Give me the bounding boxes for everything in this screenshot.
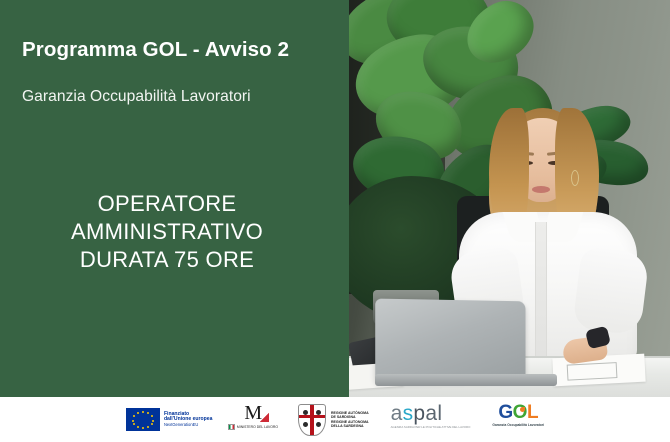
green-info-panel: Programma GOL - Avviso 2 Garanzia Occupa… bbox=[0, 0, 349, 397]
gol-letter-g: G bbox=[498, 403, 512, 422]
eu-flag-icon bbox=[126, 408, 160, 431]
title-block: Programma GOL - Avviso 2 Garanzia Occupa… bbox=[22, 38, 332, 106]
aspal-wordmark: aspal bbox=[391, 403, 443, 424]
course-duration-line: DURATA 75 ORE bbox=[0, 246, 334, 274]
laptop-base bbox=[375, 374, 557, 386]
sardinia-region-logo: REGIONE AUTÒNOMA DE SARDIGNA REGIONE AUT… bbox=[298, 403, 369, 437]
page-title: Programma GOL - Avviso 2 bbox=[22, 38, 332, 62]
aspal-letter-s: s bbox=[403, 402, 414, 425]
aspal-logo: aspal AGENZIA SARDA PER LE POLITICHE ATT… bbox=[391, 403, 471, 437]
promotional-poster: Programma GOL - Avviso 2 Garanzia Occupa… bbox=[0, 0, 670, 442]
gol-caption: Garanzia Occupabilità Lavoratori bbox=[492, 423, 544, 427]
sponsor-logo-bar: Finanziato dall'Unione europea NextGener… bbox=[0, 397, 670, 442]
person-lips bbox=[532, 186, 550, 193]
person-earring bbox=[571, 170, 579, 186]
sardinia-region-text: REGIONE AUTÒNOMA DE SARDIGNA REGIONE AUT… bbox=[331, 411, 369, 428]
ministry-caption-row: MINISTERO DEL LAVORO bbox=[228, 424, 278, 430]
sardinia-line-4: DELLA SARDEGNA bbox=[331, 424, 369, 428]
gol-logo: GOL Garanzia Occupabilità Lavoratori bbox=[492, 403, 544, 437]
aspal-letters-al: al bbox=[425, 402, 442, 425]
course-title-line-2: AMMINISTRATIVO bbox=[0, 218, 334, 246]
eu-text-line-3: NextGenerationEU bbox=[164, 423, 212, 428]
eu-funding-text: Finanziato dall'Unione europea NextGener… bbox=[164, 412, 212, 428]
ministry-m-mark: M bbox=[244, 403, 262, 423]
page-subtitle: Garanzia Occupabilità Lavoratori bbox=[22, 88, 332, 106]
aspal-letter-a: a bbox=[391, 402, 403, 425]
course-title-block: OPERATORE AMMINISTRATIVO DURATA 75 ORE bbox=[0, 190, 334, 274]
shirt-placket bbox=[535, 222, 547, 358]
aspal-letter-p: p bbox=[413, 402, 425, 425]
ministry-logo: M MINISTERO DEL LAVORO bbox=[228, 403, 278, 437]
gol-letter-l: L bbox=[527, 403, 538, 422]
ministry-caption: MINISTERO DEL LAVORO bbox=[237, 425, 278, 429]
gol-wordmark: GOL bbox=[498, 403, 538, 422]
laptop-screen bbox=[375, 299, 525, 382]
eu-funding-logo: Finanziato dall'Unione europea NextGener… bbox=[126, 403, 212, 437]
office-photo bbox=[349, 0, 670, 397]
italy-flag-icon bbox=[228, 424, 235, 430]
gol-letter-o: O bbox=[513, 403, 527, 422]
course-title-line-1: OPERATORE bbox=[0, 190, 334, 218]
four-moors-shield-icon bbox=[298, 404, 326, 436]
aspal-caption: AGENZIA SARDA PER LE POLITICHE ATTIVE DE… bbox=[391, 425, 471, 429]
